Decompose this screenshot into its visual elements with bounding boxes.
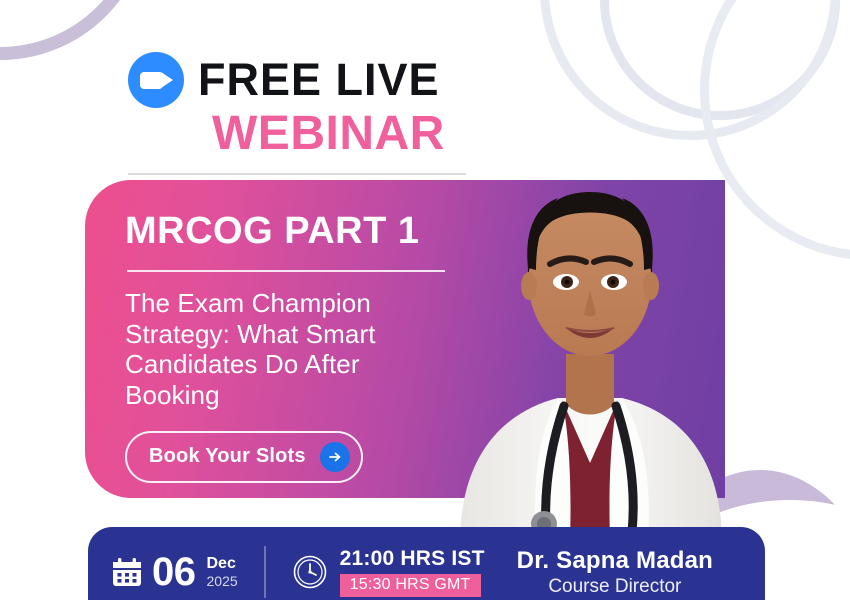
doctor-portrait	[440, 118, 740, 538]
header-line-2: WEBINAR	[212, 110, 478, 159]
header-title-row: FREE LIVE	[128, 52, 478, 108]
event-month-year: Dec 2025	[207, 556, 238, 588]
date-section: 06 Dec 2025	[110, 552, 264, 592]
speaker-role: Course Director	[548, 576, 681, 598]
speaker-name: Dr. Sapna Madan	[517, 547, 713, 575]
poster-header: FREE LIVE WEBINAR	[128, 52, 478, 175]
event-month: Dec	[207, 556, 238, 572]
schedule-bar: 06 Dec 2025 21:00 HRS IST 15:30 HRS GMT	[88, 527, 765, 600]
zoom-video-icon	[128, 52, 184, 108]
arrow-right-icon	[320, 442, 350, 472]
decorative-arc-top-left	[0, 0, 150, 60]
event-year: 2025	[207, 574, 238, 588]
calendar-icon	[110, 555, 144, 589]
book-slots-button[interactable]: Book Your Slots	[125, 431, 363, 483]
webinar-poster: FREE LIVE WEBINAR MRCOG PART 1 The Exam …	[0, 0, 850, 600]
decorative-ring-1	[600, 0, 840, 120]
time-ist: 21:00 HRS IST	[340, 547, 485, 571]
header-divider	[128, 173, 466, 175]
time-gmt: 15:30 HRS GMT	[340, 574, 481, 597]
event-day: 06	[152, 552, 196, 592]
header-line-1: FREE LIVE	[198, 58, 440, 102]
book-slots-label: Book Your Slots	[149, 445, 306, 468]
time-section: 21:00 HRS IST 15:30 HRS GMT	[266, 547, 503, 597]
clock-icon	[292, 554, 328, 590]
camera-body-shape	[140, 72, 163, 89]
course-subtitle: The Exam Champion Strategy: What Smart C…	[125, 288, 455, 411]
time-stack: 21:00 HRS IST 15:30 HRS GMT	[340, 547, 485, 597]
speaker-section: Dr. Sapna Madan Course Director	[503, 547, 713, 598]
title-divider	[127, 270, 445, 272]
camera-lens-shape	[161, 72, 173, 88]
